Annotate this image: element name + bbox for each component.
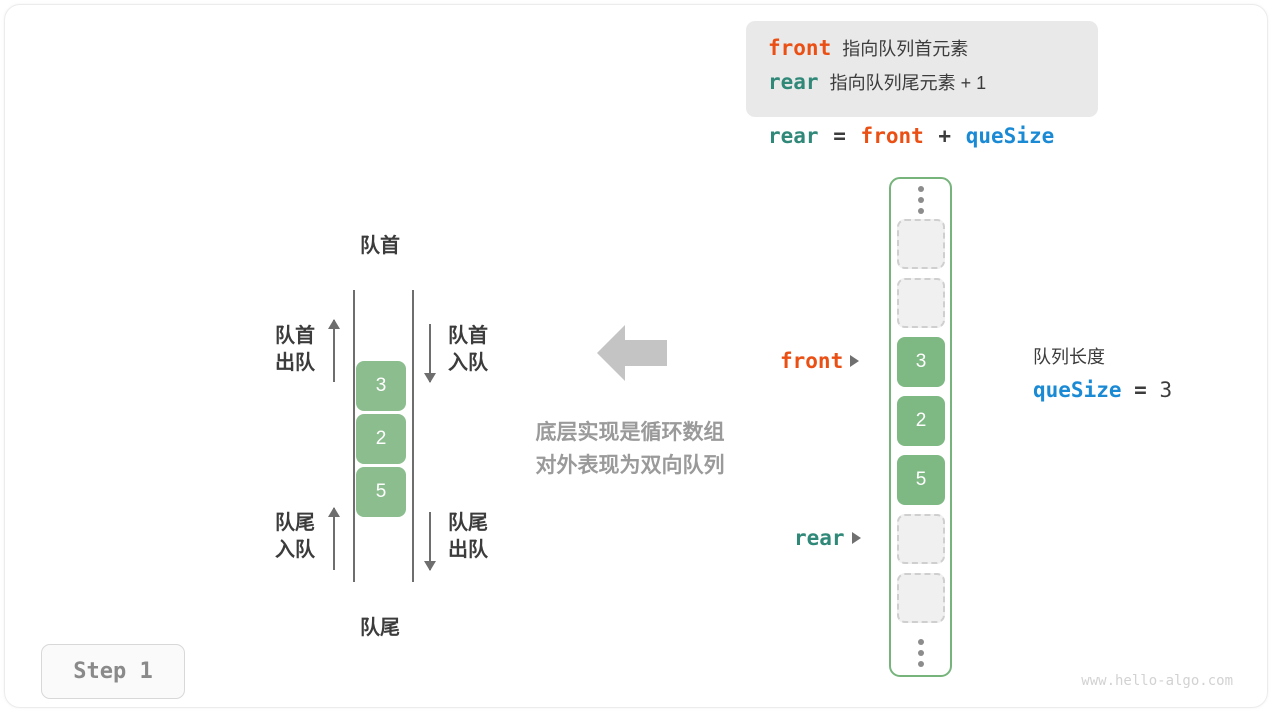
tail-dequeue-label: 队尾 出队 [448, 510, 578, 564]
array-cell-5 [897, 514, 945, 564]
deque-cell-0-value: 3 [376, 375, 387, 397]
queue-size-title: 队列长度 [1033, 343, 1172, 369]
head-dequeue-label-line1: 队首 [185, 323, 315, 350]
rear-pointer: rear [794, 526, 861, 550]
front-definition-text: 指向队列首元素 [842, 35, 968, 61]
tail-enqueue-arrow-up-icon [327, 508, 341, 570]
front-pointer: front [780, 349, 859, 373]
array-top-ellipsis [889, 186, 952, 214]
deque-cell-2: 5 [356, 467, 406, 517]
array-cell-2: 3 [897, 337, 945, 387]
tail-dequeue-label-line2: 出队 [448, 537, 578, 564]
array-cell-0 [897, 219, 945, 269]
array-cell-6 [897, 573, 945, 623]
front-keyword: front [768, 36, 831, 60]
array-cell-3: 2 [897, 396, 945, 446]
deque-cell-1-value: 2 [376, 428, 387, 450]
tail-enqueue-label: 队尾 入队 [185, 510, 315, 564]
array-cell-4: 5 [897, 455, 945, 505]
head-dequeue-label: 队首 出队 [185, 323, 315, 377]
rear-keyword: rear [768, 70, 819, 94]
array-cell-3-value: 2 [916, 410, 927, 432]
deque-tail-label: 队尾 [305, 615, 455, 642]
tail-enqueue-label-line2: 入队 [185, 537, 315, 564]
implementation-caption-line2: 对外表现为双向队列 [505, 450, 755, 483]
deque-head-label: 队首 [305, 233, 455, 260]
deque-cell-2-value: 5 [376, 481, 387, 503]
formula-rear: rear [768, 124, 819, 148]
queue-size-expression: queSize = 3 [1033, 378, 1172, 402]
queue-size-var: queSize [1033, 378, 1122, 402]
implementation-caption: 底层实现是循环数组 对外表现为双向队列 [505, 417, 755, 482]
mapping-arrow-left-icon [597, 323, 667, 388]
front-definition-line: front 指向队列首元素 [768, 35, 1080, 69]
rear-definition-text: 指向队列尾元素 + 1 [830, 69, 987, 95]
head-enqueue-arrow-down-icon [423, 324, 437, 382]
step-badge: Step 1 [41, 644, 185, 699]
deque-left-rail [353, 290, 355, 582]
implementation-caption-line1: 底层实现是循环数组 [505, 417, 755, 450]
array-bottom-ellipsis [889, 639, 952, 667]
deque-cell-1: 2 [356, 414, 406, 464]
rear-definition-line: rear 指向队列尾元素 + 1 [768, 69, 1080, 103]
front-pointer-arrow-icon [850, 355, 859, 367]
site-watermark: www.hello-algo.com [1081, 673, 1233, 689]
rear-formula: rear = front + queSize [767, 124, 1055, 148]
formula-plus: + [938, 124, 951, 148]
diagram-canvas: front 指向队列首元素 rear 指向队列尾元素 + 1 rear = fr… [4, 4, 1268, 708]
tail-enqueue-label-line1: 队尾 [185, 510, 315, 537]
array-cell-2-value: 3 [916, 351, 927, 373]
array-cell-4-value: 5 [916, 469, 927, 491]
rear-pointer-label: rear [794, 526, 845, 550]
front-pointer-label: front [780, 349, 843, 373]
head-enqueue-label: 队首 入队 [448, 323, 578, 377]
head-enqueue-label-line2: 入队 [448, 350, 578, 377]
queue-size-equals: = [1134, 378, 1147, 402]
head-dequeue-label-line2: 出队 [185, 350, 315, 377]
tail-dequeue-label-line1: 队尾 [448, 510, 578, 537]
head-enqueue-label-line1: 队首 [448, 323, 578, 350]
formula-front: front [861, 124, 924, 148]
formula-quesize: queSize [966, 124, 1055, 148]
queue-size-value: 3 [1159, 378, 1172, 402]
head-dequeue-arrow-up-icon [327, 320, 341, 382]
deque-right-rail [412, 290, 414, 582]
array-cell-1 [897, 278, 945, 328]
pointer-definition-box: front 指向队列首元素 rear 指向队列尾元素 + 1 [746, 21, 1098, 117]
deque-cell-0: 3 [356, 361, 406, 411]
queue-size-note: 队列长度 queSize = 3 [1033, 343, 1172, 402]
tail-dequeue-arrow-down-icon [423, 512, 437, 570]
rear-pointer-arrow-icon [852, 532, 861, 544]
formula-equals: = [833, 124, 846, 148]
